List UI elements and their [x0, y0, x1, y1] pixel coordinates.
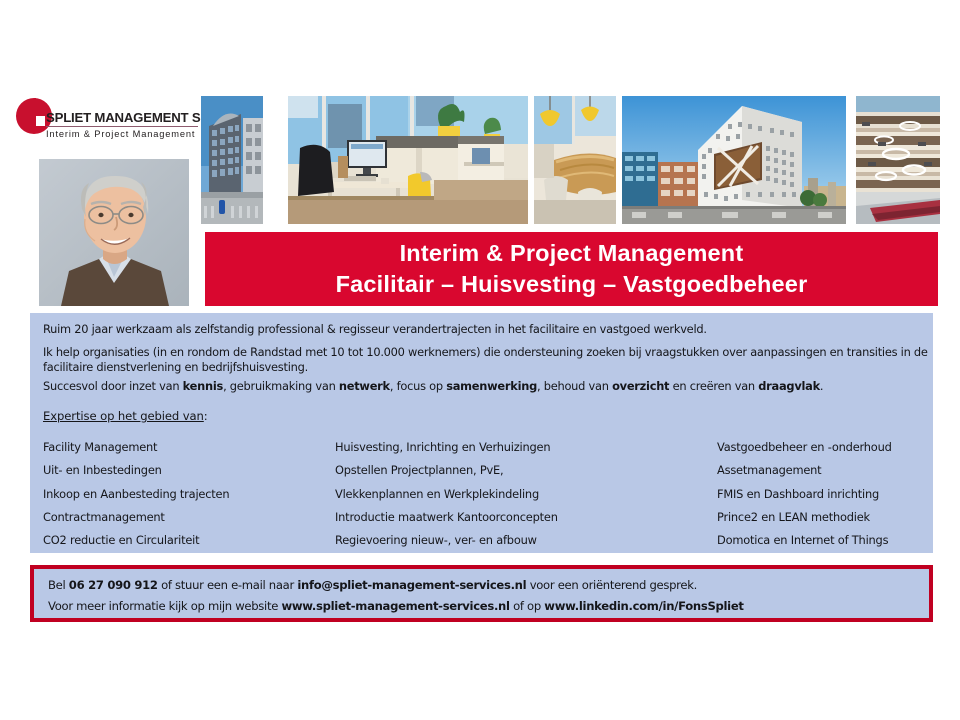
contact-line-1: Bel 06 27 090 912 of stuur een e-mail na…	[48, 575, 929, 596]
intro-paragraph-1: Ruim 20 jaar werkzaam als zelfstandig pr…	[43, 322, 923, 337]
expertise-column-1: Facility Management Uit- en Inbestedinge…	[43, 436, 335, 552]
intro-paragraph-2: Ik help organisaties (in en rondom de Ra…	[43, 345, 929, 375]
company-logo: SPLIET MANAGEMENT SERVICES Interim & Pro…	[14, 96, 200, 148]
expertise-heading: Expertise op het gebied van:	[43, 409, 208, 423]
banner-line-1: Interim & Project Management	[400, 238, 744, 269]
list-item: Opstellen Projectplannen, PvE,	[335, 459, 717, 482]
logo-tagline: Interim & Project Management	[46, 128, 200, 140]
content-panel: Ruim 20 jaar werkzaam als zelfstandig pr…	[30, 313, 933, 553]
contact-line-2: Voor meer informatie kijk op mijn websit…	[48, 596, 929, 617]
expertise-columns: Facility Management Uit- en Inbestedinge…	[43, 436, 923, 552]
list-item: Domotica en Internet of Things	[717, 529, 923, 552]
expertise-column-3: Vastgoedbeheer en -onderhoud Assetmanage…	[717, 436, 923, 552]
list-item: FMIS en Dashboard inrichting	[717, 483, 923, 506]
logo-company-name: SPLIET MANAGEMENT SERVICES	[46, 110, 200, 125]
list-item: Uit- en Inbestedingen	[43, 459, 335, 482]
list-item: Vlekkenplannen en Werkplekindeling	[335, 483, 717, 506]
list-item: Huisvesting, Inrichting en Verhuizingen	[335, 436, 717, 459]
list-item: CO2 reductie en Circulariteit	[43, 529, 335, 552]
logo-divider	[46, 126, 198, 127]
list-item: Introductie maatwerk Kantoorconcepten	[335, 506, 717, 529]
intro-paragraph-3: Succesvol door inzet van kennis, gebruik…	[43, 379, 929, 394]
list-item: Contractmanagement	[43, 506, 335, 529]
list-item: Vastgoedbeheer en -onderhoud	[717, 436, 923, 459]
slide-canvas: SPLIET MANAGEMENT SERVICES Interim & Pro…	[0, 0, 960, 720]
contact-box: Bel 06 27 090 912 of stuur een e-mail na…	[30, 565, 933, 622]
avatar	[39, 159, 189, 306]
list-item: Prince2 en LEAN methodiek	[717, 506, 923, 529]
list-item: Regievoering nieuw-, ver- en afbouw	[335, 529, 717, 552]
photo-meeting-table-with-pendant-lamps	[534, 96, 616, 224]
expertise-heading-text: Expertise op het gebied van	[43, 409, 204, 423]
list-item: Facility Management	[43, 436, 335, 459]
list-item: Inkoop en Aanbesteding trajecten	[43, 483, 335, 506]
headline-banner: Interim & Project Management Facilitair …	[205, 232, 938, 306]
photo-open-plan-office-workstation	[288, 96, 528, 224]
photo-office-atrium-interior-from-above	[856, 96, 940, 224]
logo-wordmark: SPLIET MANAGEMENT SERVICES Interim & Pro…	[46, 110, 200, 140]
banner-line-2: Facilitair – Huisvesting – Vastgoedbehee…	[336, 269, 808, 300]
list-item: Assetmanagement	[717, 459, 923, 482]
expertise-column-2: Huisvesting, Inrichting en Verhuizingen …	[335, 436, 717, 552]
photo-modern-office-building-with-atrium-cutout	[622, 96, 846, 224]
photo-office-building-exterior	[201, 96, 263, 224]
expertise-heading-colon: :	[204, 409, 208, 423]
